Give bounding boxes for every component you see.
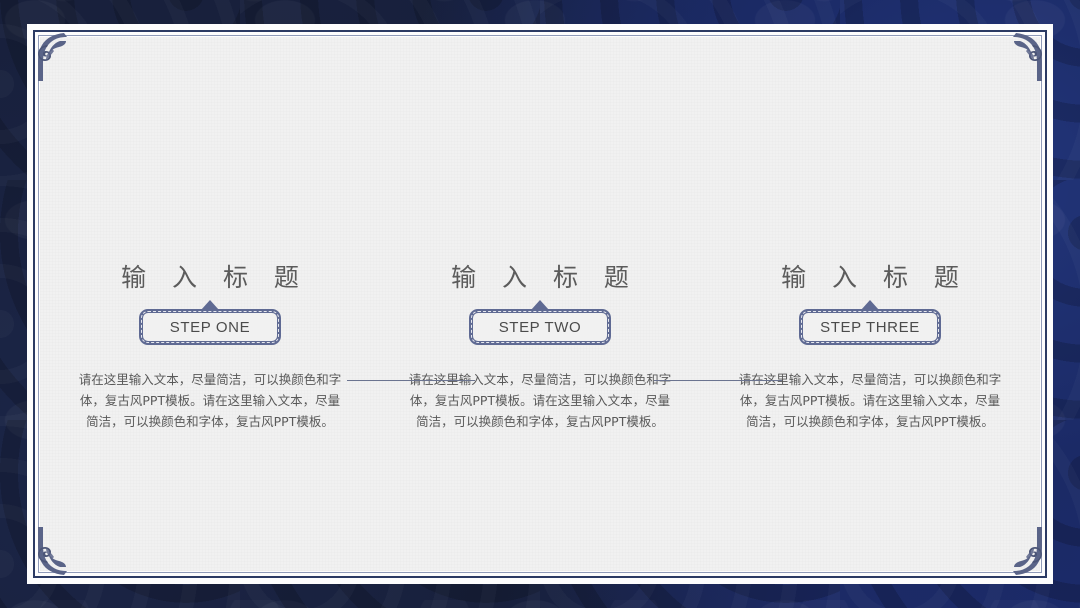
slide-canvas: 输 入 标 题 STEP ONE 请在这里输入文本，尽量简洁，可以换颜色和字体，…	[0, 0, 1080, 608]
step-item-two: 输 入 标 题 STEP TWO 请在这里输入文本，尽量简洁，可以换颜色和字体，…	[390, 37, 690, 432]
step-badge-one[interactable]: STEP ONE	[139, 309, 281, 345]
step-item-one: 输 入 标 题 STEP ONE 请在这里输入文本，尽量简洁，可以换颜色和字体，…	[60, 37, 360, 432]
step-body-one: 请在这里输入文本，尽量简洁，可以换颜色和字体，复古风PPT模板。请在这里输入文本…	[77, 369, 343, 432]
step-body-three: 请在这里输入文本，尽量简洁，可以换颜色和字体，复古风PPT模板。请在这里输入文本…	[737, 369, 1003, 432]
step-item-three: 输 入 标 题 STEP THREE 请在这里输入文本，尽量简洁，可以换颜色和字…	[720, 37, 1020, 432]
step-title-one: 输 入 标 题	[112, 265, 308, 290]
step-notch-icon-two	[531, 300, 549, 310]
step-label-two: STEP TWO	[499, 319, 582, 336]
step-notch-icon-three	[861, 300, 879, 310]
step-notch-icon-one	[201, 300, 219, 310]
step-box-wrap-three: STEP THREE	[799, 309, 941, 345]
step-badge-two[interactable]: STEP TWO	[469, 309, 611, 345]
steps-row: 输 入 标 题 STEP ONE 请在这里输入文本，尽量简洁，可以换颜色和字体，…	[40, 37, 1040, 571]
step-badge-three[interactable]: STEP THREE	[799, 309, 941, 345]
step-box-wrap-one: STEP ONE	[139, 309, 281, 345]
step-title-two: 输 入 标 题	[442, 265, 638, 290]
step-connector-line-2	[654, 380, 782, 381]
step-body-two: 请在这里输入文本，尽量简洁，可以换颜色和字体，复古风PPT模板。请在这里输入文本…	[407, 369, 673, 432]
step-title-three: 输 入 标 题	[772, 265, 968, 290]
step-label-three: STEP THREE	[820, 319, 920, 336]
step-label-one: STEP ONE	[170, 319, 250, 336]
step-connector-line-1	[347, 380, 475, 381]
step-box-wrap-two: STEP TWO	[469, 309, 611, 345]
